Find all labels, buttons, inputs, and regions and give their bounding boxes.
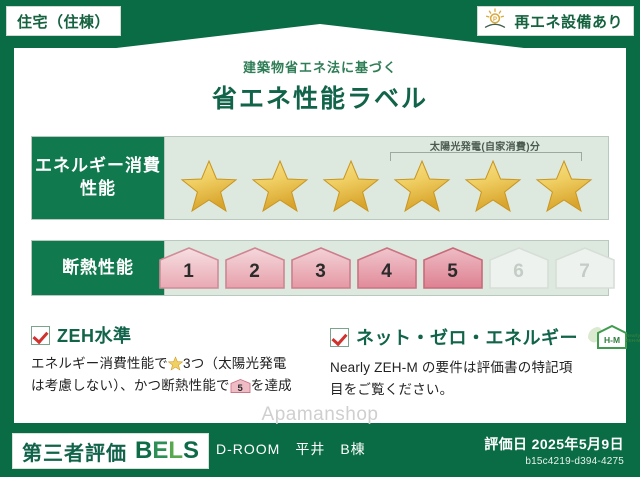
- star-icon: [251, 158, 309, 214]
- bels-wordmark: BELS: [135, 437, 199, 465]
- housing-type-label: 住宅（住棟）: [17, 11, 110, 32]
- svg-text:P: P: [493, 17, 497, 23]
- star-icon: [180, 158, 238, 214]
- bels-logo-box: 第三者評価 BELS: [12, 433, 209, 469]
- zeh-level-title: ZEH水準: [57, 322, 132, 348]
- net-zero-desc-line-2: 目をご覧ください。: [330, 382, 453, 397]
- building-name: D-ROOM 平井 B棟: [216, 439, 366, 459]
- housing-type-badge: 住宅（住棟）: [6, 6, 121, 36]
- energy-performance-label: エネルギー消費性能: [32, 155, 164, 201]
- insulation-performance-key: 断熱性能: [31, 240, 165, 296]
- inline-house-level: 5: [230, 384, 251, 394]
- zeh-m-logo-icon: H-M Nearly ZEH-M: [585, 322, 640, 352]
- label-heading: 建築物省エネ法に基づく 省エネ性能ラベル: [0, 57, 640, 115]
- star-icon: [464, 158, 522, 214]
- zeh-desc-part-3: は考慮しない）、かつ断熱性能で: [31, 378, 230, 393]
- insulation-performance-value: 1 2 3: [165, 240, 609, 296]
- insulation-grade-2: 2: [223, 245, 287, 291]
- net-zero-energy-description: Nearly ZEH-M の要件は評価書の特記項 目をご覧ください。: [330, 357, 620, 401]
- footer-meta: 評価日 2025年5月9日 b15c4219-d394-4275: [484, 434, 624, 467]
- sun-icon: P: [484, 8, 508, 35]
- svg-text:ZEH-M: ZEH-M: [626, 338, 640, 343]
- bels-letter-b: B: [135, 437, 152, 464]
- star-icon: [393, 158, 451, 214]
- insulation-grade-number: 1: [183, 262, 194, 291]
- net-zero-energy-header: ネット・ゼロ・エネルギー H-M Nearly ZEH-M: [330, 322, 620, 352]
- net-zero-desc-line-1: Nearly ZEH-M の要件は評価書の特記項: [330, 360, 573, 375]
- insulation-grade-number: 7: [579, 262, 590, 291]
- evaluation-date: 評価日 2025年5月9日: [484, 434, 624, 454]
- bels-letter-e: E: [152, 437, 168, 464]
- insulation-grade-7: 7: [553, 245, 617, 291]
- third-party-evaluation-label: 第三者評価: [22, 437, 127, 466]
- inline-house-icon: 5: [230, 378, 251, 394]
- star-icon: [322, 158, 380, 214]
- insulation-grade-number: 2: [249, 262, 260, 291]
- energy-performance-row: エネルギー消費性能: [31, 136, 609, 220]
- energy-performance-key: エネルギー消費性能: [31, 136, 165, 220]
- zeh-level-checkbox-icon[interactable]: [31, 326, 50, 345]
- document-id: b15c4219-d394-4275: [484, 456, 624, 467]
- zeh-level-description: エネルギー消費性能で 3つ（太陽光発電 は考慮しない）、かつ断熱性能で 5 を達…: [31, 353, 313, 397]
- net-zero-energy-block: ネット・ゼロ・エネルギー H-M Nearly ZEH-M Nearly ZEH…: [330, 322, 620, 401]
- insulation-performance-row: 断熱性能 1 2: [31, 240, 609, 296]
- solar-bracket-icon: [390, 152, 582, 161]
- insulation-grade-6: 6: [487, 245, 551, 291]
- heading-subtitle: 建築物省エネ法に基づく: [0, 57, 640, 76]
- star-rating: [165, 157, 608, 215]
- energy-performance-value: [165, 136, 609, 220]
- insulation-grade-number: 5: [447, 262, 458, 291]
- zeh-desc-part-1: エネルギー消費性能で: [31, 356, 168, 371]
- zeh-level-header: ZEH水準: [31, 322, 313, 348]
- zeh-m-logo-label: H-M: [604, 335, 620, 345]
- inline-star-icon: [168, 356, 183, 371]
- energy-performance-label: 住宅（住棟） P 再エネ設備あり 建築物省エネ法に基づく 省エネ性能ラベル: [0, 0, 640, 477]
- insulation-grade-1: 1: [157, 245, 221, 291]
- insulation-grade-scale: 1 2 3: [165, 241, 608, 295]
- insulation-grade-number: 6: [513, 262, 524, 291]
- renewable-equipment-label: 再エネ設備あり: [514, 11, 623, 32]
- zeh-level-block: ZEH水準 エネルギー消費性能で 3つ（太陽光発電 は考慮しない）、かつ断熱性能…: [31, 322, 313, 397]
- insulation-grade-number: 4: [381, 262, 392, 291]
- insulation-performance-label: 断熱性能: [62, 257, 134, 280]
- insulation-grade-3: 3: [289, 245, 353, 291]
- net-zero-energy-title: ネット・ゼロ・エネルギー: [356, 324, 578, 350]
- bels-letter-s: S: [183, 437, 199, 464]
- bels-letter-l: L: [168, 437, 183, 464]
- renewable-equipment-badge: P 再エネ設備あり: [477, 6, 634, 36]
- insulation-grade-number: 3: [315, 262, 326, 291]
- zeh-desc-part-2: 3つ（太陽光発電: [183, 356, 287, 371]
- insulation-grade-5: 5: [421, 245, 485, 291]
- zeh-desc-part-4: を達成: [251, 378, 292, 393]
- insulation-grade-4: 4: [355, 245, 419, 291]
- star-icon: [535, 158, 593, 214]
- heading-title: 省エネ性能ラベル: [0, 79, 640, 115]
- net-zero-checkbox-icon[interactable]: [330, 328, 349, 347]
